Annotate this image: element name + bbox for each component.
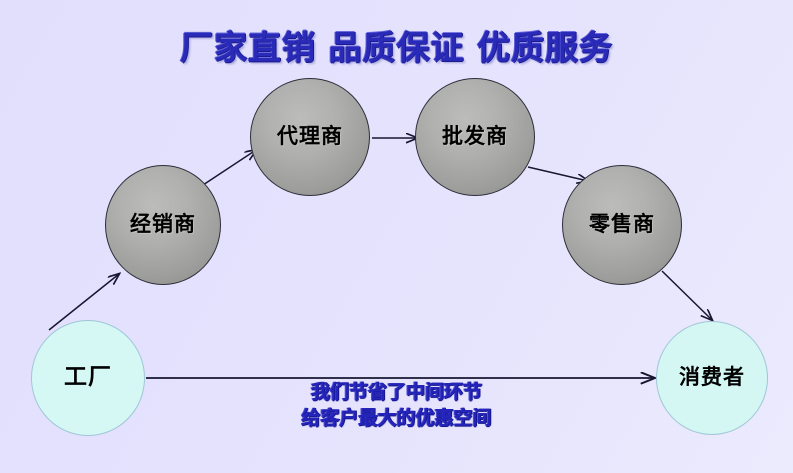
- caption-line-1: 我们节省了中间环节: [0, 380, 793, 406]
- edge-dealer-agent: [203, 150, 256, 185]
- node-retailer[interactable]: 零售商: [562, 165, 682, 285]
- node-wholesaler-label: 批发商: [442, 125, 508, 148]
- node-retailer-label: 零售商: [589, 213, 655, 236]
- edge-wholesaler-retailer: [528, 167, 588, 181]
- node-agent[interactable]: 代理商: [250, 78, 370, 196]
- node-agent-label: 代理商: [277, 125, 343, 148]
- caption-block: 我们节省了中间环节 给客户最大的优惠空间: [0, 380, 793, 431]
- edge-retailer-consumer: [662, 271, 712, 320]
- page-title: 厂家直销 品质保证 优质服务: [0, 21, 793, 69]
- node-dealer-label: 经销商: [130, 213, 196, 236]
- caption-line-2: 给客户最大的优惠空间: [0, 406, 793, 432]
- node-wholesaler[interactable]: 批发商: [415, 78, 535, 196]
- diagram-canvas: 厂家直销 品质保证 优质服务 工厂 经销商 代理商 批发商 零售商: [0, 0, 793, 473]
- node-dealer[interactable]: 经销商: [105, 165, 221, 285]
